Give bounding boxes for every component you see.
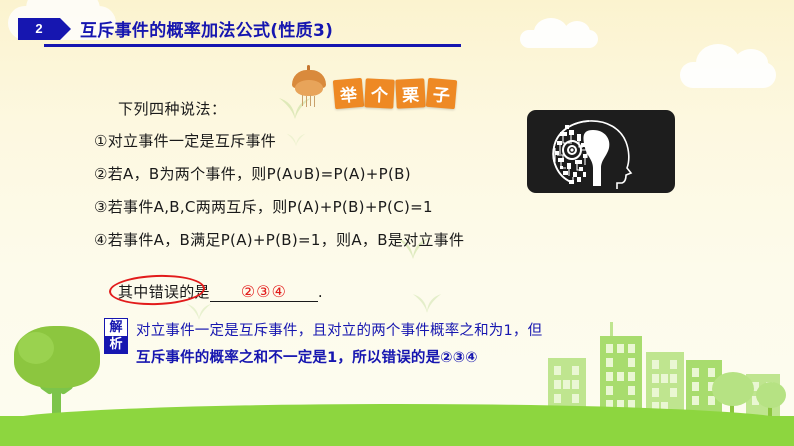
answer-blank: ②③④ bbox=[210, 282, 318, 302]
title-underline bbox=[44, 44, 461, 47]
analysis-block: 解 析 对立事件一定是互斥事件，且对立的两个事件概率之和为1，但 互斥事件的概率… bbox=[104, 318, 542, 372]
analysis-label: 解 析 bbox=[104, 318, 128, 354]
statement-item: ③若事件A,B,C两两互斥，则P(A)+P(B)+P(C)=1 bbox=[94, 196, 514, 217]
ai-brain-head-image bbox=[527, 110, 675, 193]
statement-item: ②若A，B为两个事件，则P(A∪B)=P(A)+P(B) bbox=[94, 163, 514, 184]
answer-suffix: . bbox=[318, 283, 323, 301]
section-number: 2 bbox=[35, 21, 42, 36]
question-lead: 下列四种说法： bbox=[118, 98, 514, 119]
antenna-icon bbox=[610, 322, 613, 336]
grass-strip bbox=[0, 416, 794, 446]
page-title: 2 互斥事件的概率加法公式(性质3) bbox=[18, 16, 333, 41]
tree-icon bbox=[756, 382, 786, 408]
city-skyline-decoration bbox=[534, 308, 794, 420]
analysis-text: 对立事件一定是互斥事件，且对立的两个事件概率之和为1，但 互斥事件的概率之和不一… bbox=[136, 318, 542, 372]
tree-icon bbox=[712, 372, 754, 406]
question-body: 下列四种说法： ①对立事件一定是互斥事件 ②若A，B为两个事件，则P(A∪B)=… bbox=[94, 98, 514, 262]
slide-canvas: 2 互斥事件的概率加法公式(性质3) 举 个 栗 子 bbox=[0, 0, 794, 446]
section-number-badge: 2 bbox=[18, 18, 60, 40]
statement-item: ④若事件A，B满足P(A)+P(B)=1，则A，B是对立事件 bbox=[94, 229, 514, 250]
analysis-label-top: 解 bbox=[105, 319, 127, 336]
page-title-text: 互斥事件的概率加法公式(性质3) bbox=[80, 16, 333, 41]
statement-item: ①对立事件一定是互斥事件 bbox=[94, 130, 514, 151]
analysis-label-bottom: 析 bbox=[105, 336, 127, 353]
analysis-line-2: 互斥事件的概率之和不一定是1，所以错误的是②③④ bbox=[136, 345, 542, 372]
cloud-icon bbox=[520, 30, 598, 48]
tree-icon bbox=[14, 324, 100, 420]
leaf-icon bbox=[412, 292, 442, 314]
cloud-icon bbox=[680, 62, 776, 88]
analysis-line-1: 对立事件一定是互斥事件，且对立的两个事件概率之和为1，但 bbox=[136, 318, 542, 345]
answer-value: ②③④ bbox=[241, 282, 287, 301]
